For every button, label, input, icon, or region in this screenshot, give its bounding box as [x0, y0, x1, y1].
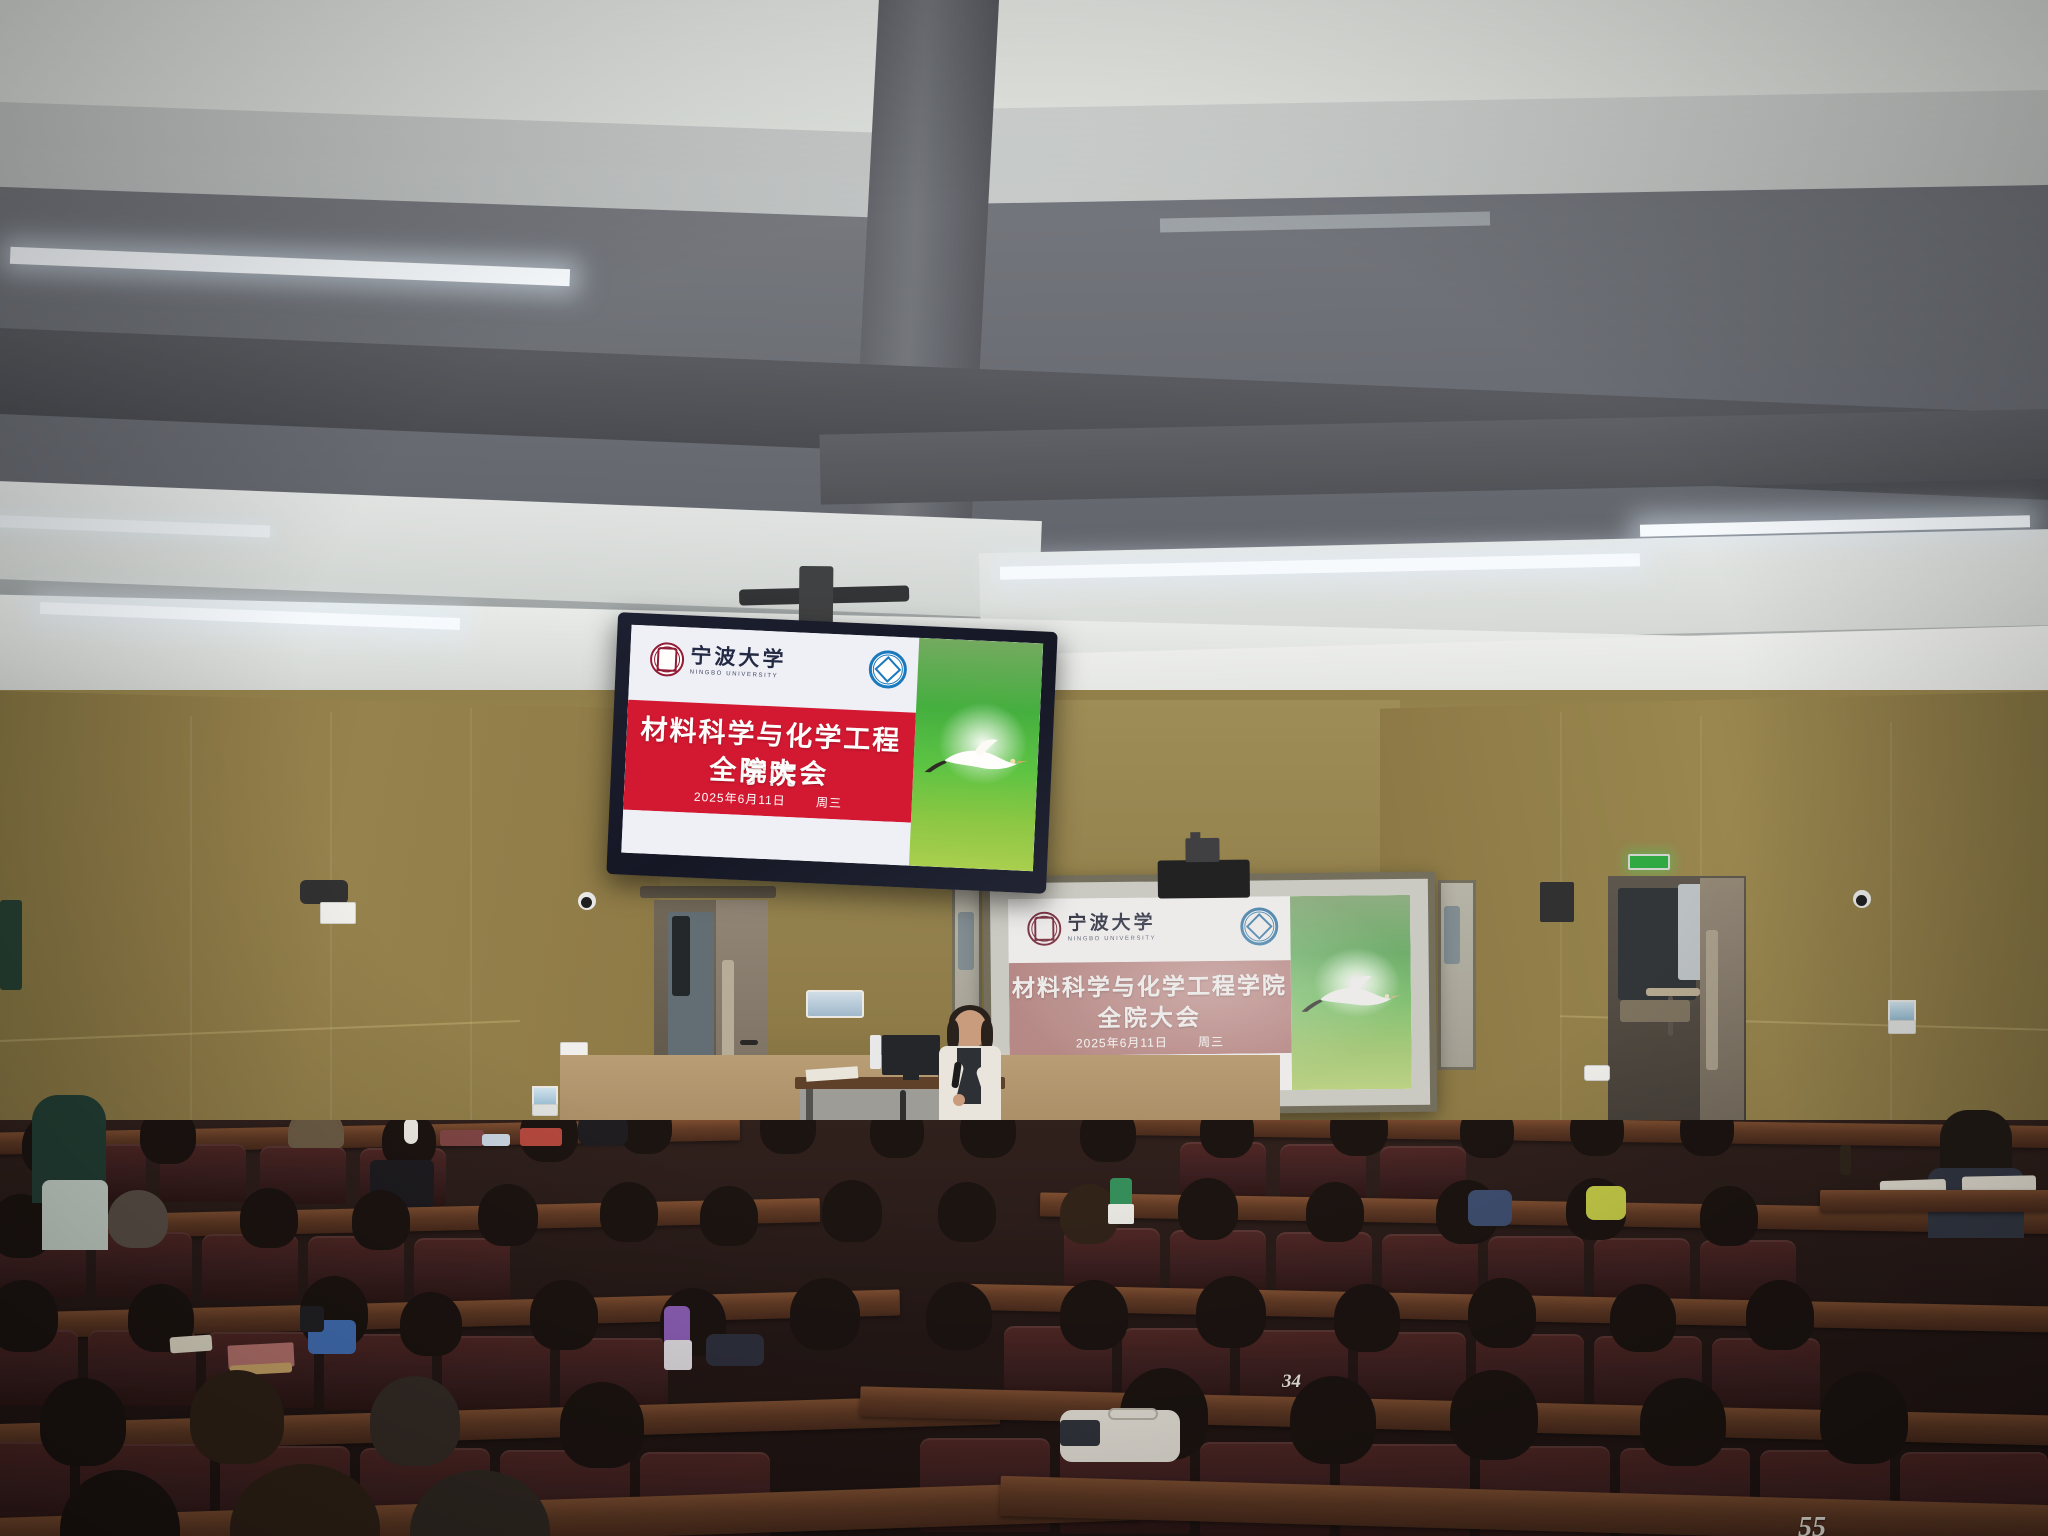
- phone-on-desk[interactable]: [1060, 1420, 1100, 1446]
- security-camera-left: [578, 892, 596, 910]
- audience-head: [1200, 1120, 1254, 1158]
- bottle-on-back-desk: [1840, 1145, 1851, 1175]
- university-logo-projected: 宁波大学 NINGBO UNIVERSITY: [1027, 911, 1156, 946]
- audience-head-foreground: [1290, 1376, 1376, 1464]
- slide-title-line2-projected: 全院大会: [1009, 997, 1291, 1034]
- audience-head-foreground: [1820, 1372, 1908, 1464]
- notice-plate-left: [320, 902, 356, 924]
- audience-head: [140, 1120, 196, 1164]
- audience-head: [938, 1182, 996, 1242]
- university-name-en: NINGBO UNIVERSITY: [1068, 936, 1157, 943]
- audience-head: [1700, 1186, 1758, 1246]
- podium-monitor-stand: [903, 1071, 919, 1080]
- tv-screen: 宁波大学 NINGBO UNIVERSITY 材料科学与化学工程学院 全院大会 …: [621, 625, 1043, 871]
- slide-date-projected: 2025年6月11日 周三: [1009, 1032, 1291, 1052]
- audience-head: [1306, 1182, 1364, 1242]
- audience-head: [1060, 1280, 1128, 1350]
- slide-date-text-tv: 2025年6月11日: [694, 789, 786, 807]
- audience-head: [352, 1190, 410, 1250]
- screen-side-board-label-left: [958, 912, 974, 970]
- audience-head: [822, 1180, 882, 1242]
- audience-head-foreground: [1640, 1378, 1726, 1466]
- audience-head: [926, 1282, 992, 1350]
- corridor-table: [1646, 988, 1700, 996]
- slide-text-area-tv: 宁波大学 NINGBO UNIVERSITY 材料科学与化学工程学院 全院大会 …: [621, 625, 919, 866]
- corridor-cabinet: [1620, 1000, 1690, 1022]
- audience-head: [478, 1184, 538, 1246]
- exit-sign: [1628, 854, 1670, 870]
- seat-number: 34: [1282, 1371, 1301, 1393]
- audience-head: [108, 1190, 168, 1248]
- audience-head: [700, 1186, 758, 1246]
- slide-tv: 宁波大学 NINGBO UNIVERSITY 材料科学与化学工程学院 全院大会 …: [621, 625, 1043, 871]
- podium-water-bottle: [870, 1035, 881, 1069]
- slide-weekday-text-tv: 周三: [816, 795, 843, 810]
- lecture-hall-photo: 宁波大学 NINGBO UNIVERSITY 材料科学与化学工程学院 全院大会 …: [0, 0, 2048, 1536]
- audience-head: [1330, 1120, 1388, 1156]
- tv-mount-pole: [799, 566, 834, 626]
- audience-shirt-yellow: [1586, 1186, 1626, 1220]
- left-doorway-dark-slats: [672, 916, 690, 996]
- paper-sheet: [169, 1335, 212, 1354]
- wall-seam: [330, 712, 332, 1148]
- audience-head: [1196, 1276, 1266, 1348]
- audience-head: [1178, 1178, 1238, 1240]
- slide-nature-photo-tv: [909, 638, 1043, 871]
- backpack: [578, 1120, 628, 1146]
- eyeglasses: [1108, 1408, 1158, 1420]
- slide-date-text: 2025年6月11日: [1076, 1035, 1168, 1050]
- audience-head: [1080, 1120, 1136, 1162]
- seat[interactable]: [1712, 1338, 1820, 1414]
- power-outlet-plate-left: [532, 1104, 558, 1116]
- phone[interactable]: [300, 1306, 324, 1332]
- audience-head: [1334, 1284, 1400, 1352]
- audience-head: [1460, 1120, 1514, 1158]
- audience-seating: 34 4 53 54 55: [0, 1120, 2048, 1536]
- ceiling-speaker-right: [1540, 882, 1574, 922]
- audience-head: [760, 1120, 816, 1154]
- slide-nature-photo-projected: [1290, 895, 1413, 1091]
- audience-shirt-navy: [1468, 1190, 1512, 1226]
- audience-head: [1570, 1120, 1624, 1156]
- audience-head: [600, 1182, 658, 1242]
- audience-head: [400, 1292, 462, 1356]
- audience-head-foreground: [1450, 1370, 1538, 1460]
- right-door-glass: [1706, 930, 1718, 1070]
- audience-head: [530, 1280, 598, 1350]
- university-seal-icon-tv: [650, 642, 686, 678]
- wall-seam: [1560, 712, 1562, 1148]
- left-door-handle[interactable]: [740, 1040, 758, 1045]
- wall-seam: [470, 708, 472, 1148]
- small-case: [482, 1134, 510, 1146]
- ceiling-speaker-left: [300, 880, 348, 904]
- wall-switch-plate-right: [1584, 1065, 1610, 1081]
- ceiling-mounted-tv: 宁波大学 NINGBO UNIVERSITY 材料科学与化学工程学院 全院大会 …: [606, 612, 1057, 894]
- handbag: [288, 1120, 344, 1148]
- ceiling-projector: [1158, 860, 1250, 899]
- security-camera-right: [1853, 890, 1871, 908]
- presenter-hand: [953, 1094, 965, 1106]
- audience-head-foreground: [560, 1382, 644, 1468]
- tv-bezel: 宁波大学 NINGBO UNIVERSITY 材料科学与化学工程学院 全院大会 …: [606, 612, 1057, 894]
- slide-weekday-text: 周三: [1198, 1035, 1224, 1049]
- notice-poster-right: [1888, 1000, 1916, 1022]
- egret-bird-icon-tv: [920, 716, 1037, 799]
- audience-head: [1610, 1284, 1676, 1352]
- left-wall-green-panel: [0, 900, 22, 990]
- plush-keychain: [404, 1120, 418, 1144]
- audience-head-foreground: [40, 1378, 126, 1466]
- jacket-on-desk: [706, 1334, 764, 1366]
- audience-head: [1746, 1280, 1814, 1350]
- audience-cap: [370, 1376, 460, 1466]
- pencil-case: [520, 1128, 562, 1146]
- audience-head: [870, 1120, 924, 1158]
- university-logo-tv: 宁波大学 NINGBO UNIVERSITY: [650, 642, 787, 682]
- wall-seam: [190, 716, 192, 1146]
- university-name-cn-tv: 宁波大学: [690, 645, 787, 670]
- notebook-red: [440, 1130, 484, 1146]
- left-door-header: [640, 886, 776, 898]
- audience-head: [1468, 1278, 1536, 1348]
- audience-head: [960, 1120, 1016, 1158]
- wall-notice-board: [806, 990, 864, 1018]
- university-name-cn: 宁波大学: [1067, 914, 1156, 934]
- audience-head-foreground: [190, 1370, 284, 1464]
- wall-seam: [1890, 722, 1892, 1150]
- power-outlet-plate-right: [1888, 1020, 1916, 1034]
- audience-head: [1680, 1120, 1734, 1156]
- back-desk-right: [1820, 1190, 2048, 1212]
- screen-side-board-label-right: [1444, 906, 1460, 964]
- university-seal-icon: [1027, 912, 1061, 946]
- egret-bird-icon: [1298, 961, 1410, 1028]
- audience-head: [240, 1188, 298, 1248]
- audience-head: [790, 1278, 860, 1350]
- seat[interactable]: [442, 1336, 550, 1412]
- seat-number: 55: [1798, 1512, 1826, 1536]
- standing-person-shirt: [42, 1180, 108, 1250]
- water-bottle-body: [664, 1340, 692, 1370]
- drink-cup-body: [1108, 1204, 1134, 1224]
